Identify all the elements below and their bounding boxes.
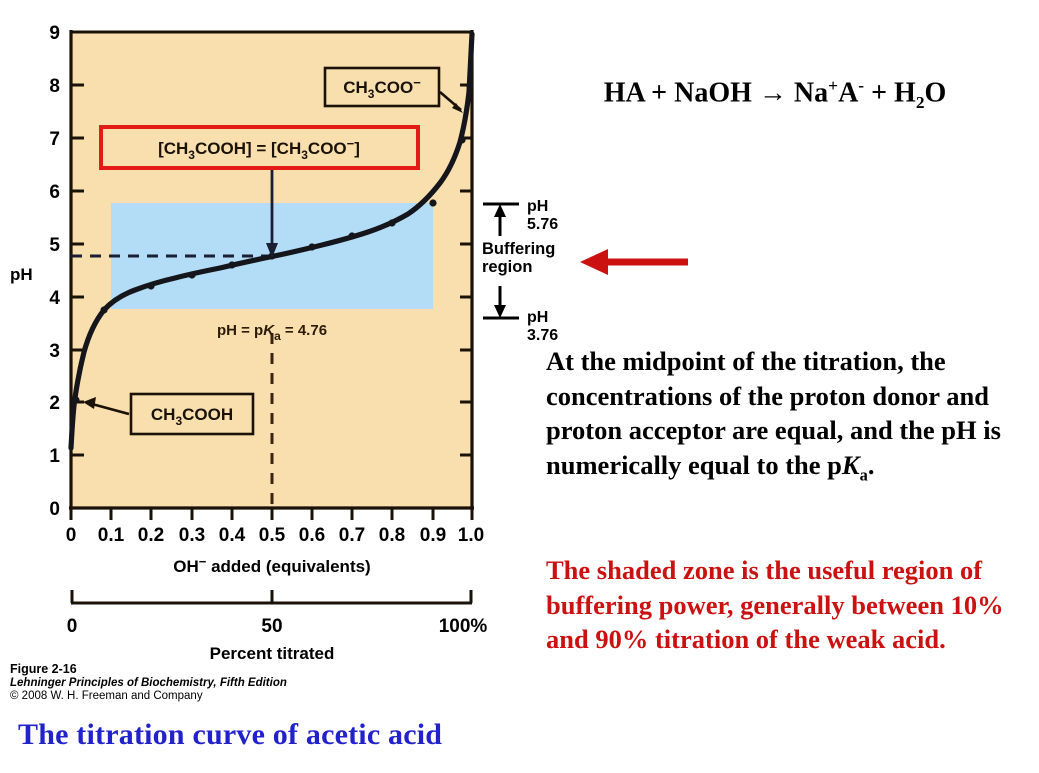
- para-black-line4: acceptor are equal, and the pH: [629, 415, 977, 445]
- x-axis-title-oh: OH: [173, 557, 199, 576]
- x-tick-label-0: 0: [66, 525, 77, 546]
- y-tick-label-7: 7: [49, 129, 60, 150]
- para-black-line1: At the midpoint of the titration,: [546, 346, 904, 376]
- equation-h-sub: 2: [916, 93, 925, 112]
- para-red-line4: titration of the weak acid.: [655, 624, 946, 654]
- equality-left: [CH: [158, 139, 188, 158]
- base-label-ch: CH: [343, 78, 368, 97]
- equality-right-rest: COO: [308, 139, 347, 158]
- equation-na: Na: [794, 77, 828, 108]
- midpoint-suffix: = 4.76: [281, 322, 327, 339]
- buffering-upper-label: pH 5.76: [527, 198, 558, 234]
- para-black-line5-k: K: [842, 450, 860, 480]
- titration-chart: 9 8 7 6 5 4 3 2 1 0 pH 0 0.1 0.2 0.3: [0, 0, 520, 680]
- acid-label-cooh: COOH: [182, 405, 233, 424]
- x-tick-label-0p2: 0.2: [138, 525, 164, 546]
- midpoint-explanation-paragraph: At the midpoint of the titration, the co…: [546, 344, 1032, 486]
- x-axis-title: OH− added (equivalents): [173, 554, 370, 576]
- buffering-lower-label: pH 3.76: [527, 309, 558, 345]
- base-label-coo: COO: [374, 78, 413, 97]
- equation-a: A: [838, 77, 858, 108]
- base-label-minus: −: [413, 75, 421, 90]
- y-tick-label-5: 5: [49, 235, 60, 256]
- red-pointer-arrow: [578, 248, 690, 276]
- percent-scale-bar: [71, 590, 472, 603]
- percent-tick-label-100: 100%: [439, 616, 488, 637]
- y-tick-label-9: 9: [49, 23, 60, 44]
- page-title: The titration curve of acetic acid: [18, 718, 442, 752]
- equation-arrow-icon: →: [752, 77, 794, 108]
- y-tick-label-6: 6: [49, 182, 60, 203]
- para-black-line5b: .: [868, 450, 875, 480]
- base-label-box: CH3COO−: [325, 68, 439, 106]
- equation-h: H: [894, 77, 916, 108]
- x-axis-title-rest: added (equivalents): [206, 557, 370, 576]
- y-tick-label-1: 1: [49, 446, 60, 467]
- y-tick-label-4: 4: [49, 288, 60, 309]
- x-tick-label-0p6: 0.6: [299, 525, 325, 546]
- equation-plus-2: +: [864, 77, 894, 108]
- acid-label-ch: CH: [151, 405, 176, 424]
- y-tick-label-3: 3: [49, 341, 60, 362]
- credit-book-title: Lehninger Principles of Biochemistry, Fi…: [10, 677, 340, 691]
- x-tick-label-0p7: 0.7: [339, 525, 365, 546]
- x-tick-label-0p5: 0.5: [259, 525, 286, 546]
- percent-tick-label-0: 0: [67, 616, 78, 637]
- x-tick-label-1p0: 1.0: [458, 525, 484, 546]
- y-axis-title: pH: [10, 265, 33, 284]
- credit-figure-number: Figure 2-16: [10, 662, 340, 677]
- equality-label-box: [CH3COOH] = [CH3COO−]: [101, 127, 418, 168]
- equation-o: O: [925, 77, 947, 108]
- x-tick-label-0p1: 0.1: [98, 525, 125, 546]
- y-tick-label-8: 8: [49, 76, 60, 97]
- figure-panel: 9 8 7 6 5 4 3 2 1 0 pH 0 0.1 0.2 0.3: [0, 0, 520, 773]
- equation-plus-1: +: [644, 77, 674, 108]
- equation-ha: HA: [604, 77, 644, 108]
- y-tick-label-2: 2: [49, 393, 60, 414]
- equality-left-rest: COOH] = [CH: [195, 139, 301, 158]
- equality-bracket: ]: [354, 139, 360, 158]
- equation-na-charge: +: [828, 76, 838, 95]
- para-black-line5-sub: a: [860, 465, 868, 484]
- para-red-line1: The shaded zone is the useful: [546, 555, 875, 585]
- x-tick-label-0p4: 0.4: [219, 525, 246, 546]
- y-tick-label-0: 0: [49, 499, 60, 520]
- shaded-zone-paragraph: The shaded zone is the useful region of …: [546, 553, 1038, 657]
- buffering-region-label-line2: region: [482, 258, 555, 276]
- midpoint-prefix: pH = p: [217, 322, 263, 339]
- credit-copyright: © 2008 W. H. Freeman and Company: [10, 690, 340, 704]
- x-axis-ticks: [71, 508, 472, 520]
- x-tick-label-0p9: 0.9: [420, 525, 446, 546]
- percent-axis-title: Percent titrated: [210, 644, 335, 663]
- equation-naoh: NaOH: [674, 77, 752, 108]
- buffering-region-label-line1: Buffering: [482, 240, 555, 258]
- percent-tick-label-50: 50: [261, 616, 282, 637]
- x-tick-label-0p8: 0.8: [379, 525, 405, 546]
- figure-credit: Figure 2-16 Lehninger Principles of Bioc…: [10, 662, 340, 704]
- reaction-equation: HA + NaOH → Na+A- + H2O: [520, 76, 1030, 113]
- acid-label-box: CH3COOH: [131, 394, 253, 434]
- x-tick-label-0p3: 0.3: [179, 525, 205, 546]
